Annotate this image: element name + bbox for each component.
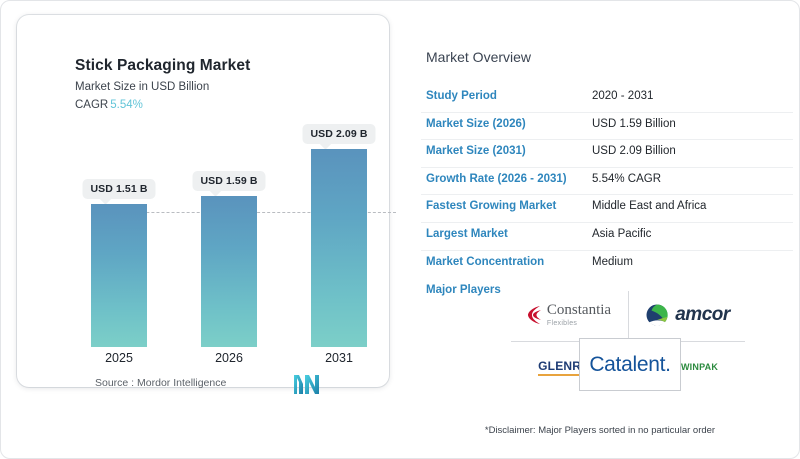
row-label: Market Size (2031)	[426, 145, 526, 157]
row-value: Asia Pacific	[592, 228, 651, 240]
bar-value-badge: USD 1.51 B	[82, 179, 155, 199]
row-label: Largest Market	[426, 228, 508, 240]
mordor-intelligence-logo-icon	[294, 375, 320, 394]
row-label: Study Period	[426, 90, 497, 102]
constantia-subtext: Flexibles	[547, 320, 611, 327]
bar-value-badge: USD 1.59 B	[192, 171, 265, 191]
market-snapshot-page: Stick Packaging Market Market Size in US…	[0, 0, 800, 459]
player-logo-catalent: Catalent.	[579, 338, 681, 391]
winpak-wordmark: WINPAK	[681, 362, 718, 372]
bar-value-badge: USD 2.09 B	[302, 124, 375, 144]
x-tick-label: 2025	[105, 351, 133, 365]
row-label: Market Concentration	[426, 256, 544, 268]
cagr-label: CAGR	[75, 99, 108, 111]
bar-2025	[91, 204, 147, 347]
row-value: 5.54% CAGR	[592, 173, 661, 185]
row-label: Market Size (2026)	[426, 118, 526, 130]
table-row: Fastest Growing Market Middle East and A…	[421, 195, 793, 223]
row-value: USD 1.59 Billion	[592, 118, 676, 130]
disclaimer-text: *Disclaimer: Major Players sorted in no …	[425, 425, 775, 436]
amcor-wordmark: amcor	[675, 304, 730, 326]
bar-group-2025: USD 1.51 B 2025	[91, 125, 147, 347]
bar-group-2031: USD 2.09 B 2031	[311, 125, 367, 347]
table-row: Largest Market Asia Pacific	[421, 223, 793, 251]
row-value: Middle East and Africa	[592, 200, 706, 212]
bar-2031	[311, 149, 367, 347]
amcor-mark-icon	[645, 303, 669, 327]
catalent-period: .	[665, 353, 671, 376]
bar-group-2026: USD 1.59 B 2026	[201, 125, 257, 347]
source-text: Source : Mordor Intelligence	[95, 377, 226, 389]
chart-card: Stick Packaging Market Market Size in US…	[17, 15, 389, 387]
table-row: Market Concentration Medium	[421, 251, 793, 278]
market-overview-heading: Market Overview	[426, 49, 531, 65]
x-tick-label: 2026	[215, 351, 243, 365]
constantia-mark-icon	[526, 304, 543, 326]
chart-subtitle: Market Size in USD Billion	[75, 81, 209, 93]
table-row: Growth Rate (2026 - 2031) 5.54% CAGR	[421, 168, 793, 196]
table-row: Market Size (2031) USD 2.09 Billion	[421, 140, 793, 168]
table-row: Study Period 2020 - 2031	[421, 85, 793, 113]
player-logo-amcor: amcor	[628, 289, 747, 341]
table-row: Market Size (2026) USD 1.59 Billion	[421, 113, 793, 141]
constantia-wordmark: Constantia	[547, 303, 611, 318]
row-value: 2020 - 2031	[592, 90, 653, 102]
market-overview-table: Study Period 2020 - 2031 Market Size (20…	[421, 85, 793, 277]
row-value: USD 2.09 Billion	[592, 145, 676, 157]
row-label: Growth Rate (2026 - 2031)	[426, 173, 567, 185]
row-label: Fastest Growing Market	[426, 200, 556, 212]
player-logo-constantia: Constantia Flexibles	[509, 289, 628, 341]
chart-title: Stick Packaging Market	[75, 57, 250, 75]
catalent-wordmark-text: Catalent	[589, 353, 665, 376]
cagr-value: 5.54%	[110, 99, 143, 111]
row-value: Medium	[592, 256, 633, 268]
x-tick-label: 2031	[325, 351, 353, 365]
bar-chart-plot: USD 1.51 B 2025 USD 1.59 B 2026 USD 2.09…	[77, 125, 377, 347]
cagr-line: CAGR5.54%	[75, 99, 143, 111]
major-players-label: Major Players	[426, 284, 501, 296]
bar-2026	[201, 196, 257, 347]
catalent-wordmark: Catalent.	[589, 353, 670, 377]
